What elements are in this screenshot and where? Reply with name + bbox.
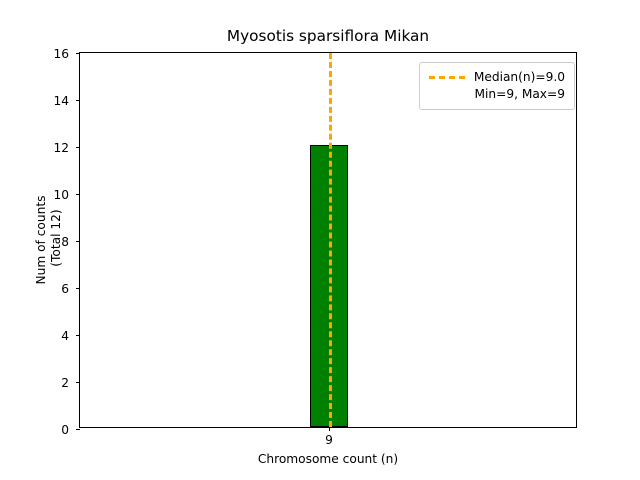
page-title: Myosotis sparsiflora Mikan bbox=[79, 27, 577, 45]
legend-minmax-label: Min=9, Max=9 bbox=[474, 86, 565, 103]
y-tick-16: 16 bbox=[76, 53, 80, 54]
y-tick-label-14: 14 bbox=[53, 94, 69, 108]
y-axis-label-line1: Num of counts bbox=[34, 196, 49, 285]
median-vline bbox=[329, 53, 332, 427]
y-tick-label-12: 12 bbox=[53, 141, 69, 155]
y-tick-label-4: 4 bbox=[61, 329, 69, 343]
x-tick-9 bbox=[329, 427, 330, 431]
legend: Median(n)=9.0 Min=9, Max=9 bbox=[419, 62, 575, 110]
y-tick-label-8: 8 bbox=[61, 235, 69, 249]
y-tick-2: 2 bbox=[76, 382, 80, 383]
y-tick-label-16: 16 bbox=[53, 47, 69, 61]
y-tick-0: 0 bbox=[76, 429, 80, 430]
y-tick-label-10: 10 bbox=[53, 188, 69, 202]
figure-canvas: Myosotis sparsiflora Mikan 0246810121416… bbox=[0, 0, 640, 480]
y-tick-6: 6 bbox=[76, 288, 80, 289]
y-tick-4: 4 bbox=[76, 335, 80, 336]
legend-median-label: Median(n)=9.0 bbox=[474, 69, 565, 86]
y-tick-label-0: 0 bbox=[61, 423, 69, 437]
y-tick-10: 10 bbox=[76, 194, 80, 195]
median-line-swatch-icon bbox=[429, 69, 465, 85]
legend-entry-text: Median(n)=9.0 Min=9, Max=9 bbox=[474, 69, 565, 103]
x-tick-label-9: 9 bbox=[325, 433, 333, 447]
x-axis-label: Chromosome count (n) bbox=[79, 452, 577, 466]
y-tick-14: 14 bbox=[76, 100, 80, 101]
plot-area: 0246810121416 9 Median(n)=9.0 Min=9, Max… bbox=[79, 52, 577, 428]
y-tick-12: 12 bbox=[76, 147, 80, 148]
y-tick-label-2: 2 bbox=[61, 376, 69, 390]
y-tick-label-6: 6 bbox=[61, 282, 69, 296]
y-tick-8: 8 bbox=[76, 241, 80, 242]
